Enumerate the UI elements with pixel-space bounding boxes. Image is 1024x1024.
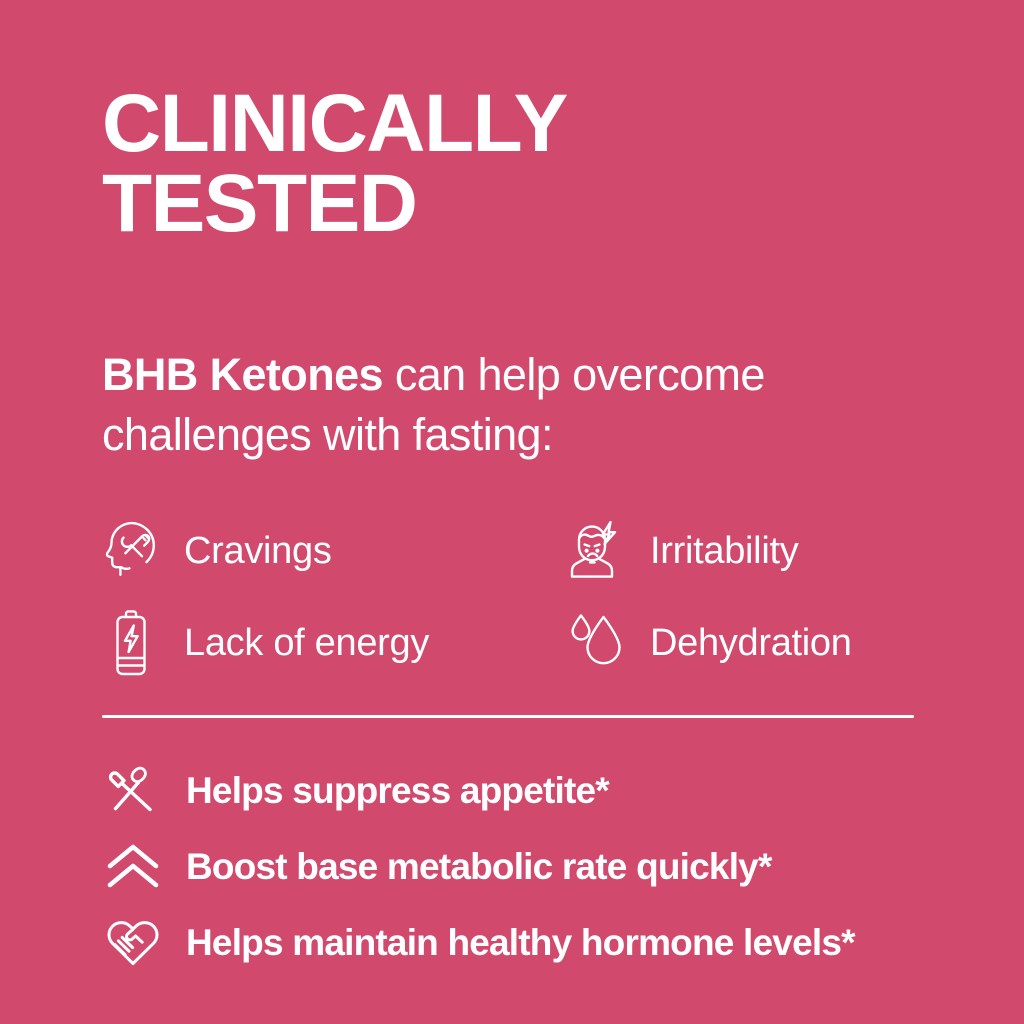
subheading: BHB Ketones can help overcome challenges… xyxy=(102,345,962,465)
symptom-label: Irritability xyxy=(650,532,798,570)
crossed-utensils-icon xyxy=(100,761,166,819)
heart-handshake-icon xyxy=(100,913,166,971)
symptom-item-cravings: Cravings xyxy=(100,515,560,587)
symptom-item-irritability: Irritability xyxy=(566,515,930,587)
benefit-label: Boost base metabolic rate quickly* xyxy=(186,848,772,885)
benefit-item-metabolic-rate: Boost base metabolic rate quickly* xyxy=(100,828,1000,904)
benefits-list: Helps suppress appetite* Boost base meta… xyxy=(100,752,1000,980)
symptom-item-dehydration: Dehydration xyxy=(566,607,930,679)
promo-poster: CLINICALLY TESTED BHB Ketones can help o… xyxy=(0,0,1024,1024)
headline-line-2: TESTED xyxy=(102,164,922,244)
benefit-label: Helps maintain healthy hormone levels* xyxy=(186,924,855,961)
benefit-label: Helps suppress appetite* xyxy=(186,772,609,809)
angry-face-lightning-icon xyxy=(566,515,628,587)
subheading-line-2: challenges with fasting: xyxy=(102,405,962,465)
benefit-item-appetite: Helps suppress appetite* xyxy=(100,752,1000,828)
symptom-label: Lack of energy xyxy=(184,624,429,662)
symptom-grid: Cravings Irritability xyxy=(100,505,930,689)
head-utensils-icon xyxy=(100,515,162,587)
subheading-emphasis: BHB Ketones xyxy=(102,349,383,400)
symptom-item-lack-of-energy: Lack of energy xyxy=(100,607,560,679)
symptom-label: Cravings xyxy=(184,532,332,570)
water-drops-icon xyxy=(566,607,628,679)
symptom-label: Dehydration xyxy=(650,624,852,662)
page-title: CLINICALLY TESTED xyxy=(102,84,922,243)
headline-line-1: CLINICALLY xyxy=(102,84,922,164)
benefit-item-hormone-levels: Helps maintain healthy hormone levels* xyxy=(100,904,1000,980)
section-divider xyxy=(102,715,914,718)
subheading-rest: can help overcome xyxy=(383,349,765,400)
double-chevron-up-icon xyxy=(100,837,166,895)
subheading-line-1: BHB Ketones can help overcome xyxy=(102,345,962,405)
battery-lightning-icon xyxy=(100,607,162,679)
